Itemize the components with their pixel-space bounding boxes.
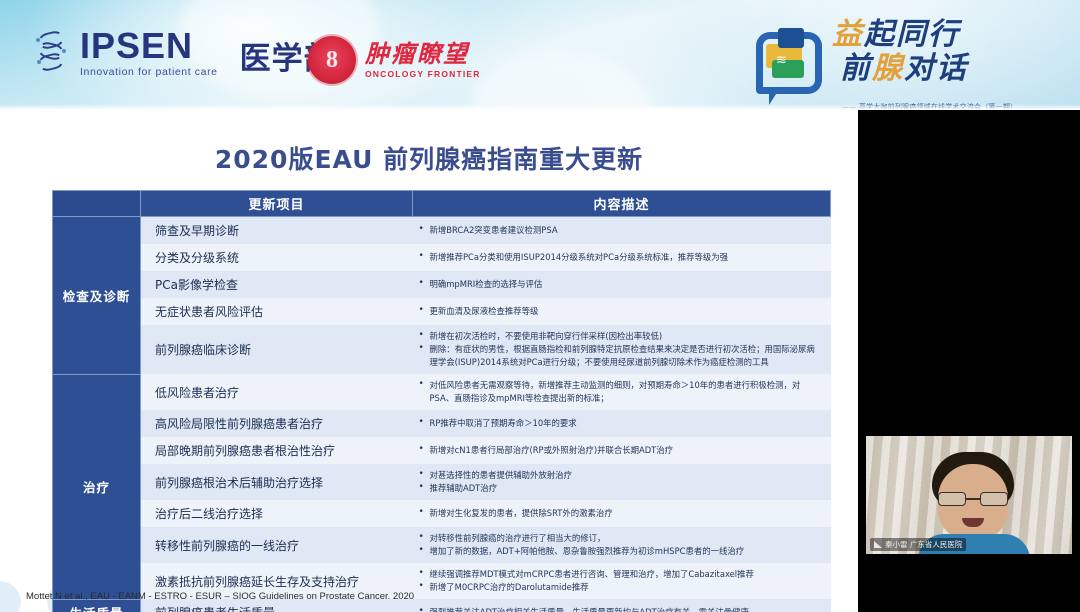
ipsen-name: IPSEN (80, 28, 218, 64)
description-bullet: 继续强调推荐MDT模式对mCRPC患者进行咨询、管理和治疗，增加了Cabazit… (419, 568, 821, 581)
table-row: PCa影像学检查明确mpMRI检查的选择与评估 (53, 271, 831, 298)
table-row: 检查及诊断筛查及早期诊断新增BRCA2突变患者建议检测PSA (53, 217, 831, 245)
citation-text: Mottet N et al., EAU - EANM - ESTRO - ES… (26, 591, 414, 602)
row-description: 新增对cN1患者行局部治疗(RP或外照射治疗)并联合长期ADT治疗 (413, 437, 831, 464)
column-header-blank (53, 191, 141, 217)
row-description: 新增推荐PCa分类和使用ISUP2014分级系统对PCa分级系统标准，推荐等级为… (413, 244, 831, 271)
description-bullet: 删除：有症状的男性，根据直肠指检和前列腺特定抗原检查结果来决定是否进行初次活检；… (419, 343, 821, 369)
meeting-logo: ≋ 益起同行 前腺对话 —— 高学大咖前列腺癌领域在线学术交流会（第一期） (746, 14, 1066, 110)
section-label: 检查及诊断 (53, 217, 141, 375)
table-row: 局部晚期前列腺癌患者根治性治疗新增对cN1患者行局部治疗(RP或外照射治疗)并联… (53, 437, 831, 464)
screen-root: IPSEN Innovation for patient care 医学部 肿瘤… (0, 0, 1080, 612)
meeting-title-line2-a: 前 (840, 51, 872, 86)
description-bullet: 对低风险患者无需观察等待，新增推荐主动监测的细则，对预期寿命＞10年的患者进行积… (419, 379, 821, 405)
ipsen-logo: IPSEN Innovation for patient care 医学部 (34, 28, 336, 78)
meeting-title-line2-b: 对话 (904, 51, 968, 86)
table-row: 前列腺癌临床诊断新增在初次活检时，不要使用非靶向穿行伴采样(因检出率较低)删除：… (53, 325, 831, 374)
section-label: 治疗 (53, 374, 141, 599)
meeting-title-line1: 起同行 (864, 17, 960, 52)
row-item-label: 低风险患者治疗 (141, 374, 413, 410)
table-row: 高风险局限性前列腺癌患者治疗RP推荐中取消了预期寿命＞10年的要求 (53, 410, 831, 437)
row-description: 新增对生化复发的患者，提供除SRT外的激素治疗 (413, 500, 831, 527)
page-title: 2020版EAU 前列腺癌指南重大更新 (0, 140, 858, 176)
row-description: 对转移性前列腺癌的治疗进行了相当大的修订，增加了新的数据，ADT+阿帕他胺、恩杂… (413, 527, 831, 563)
wifi-icon: ≋ (776, 52, 787, 68)
glasses-icon (938, 492, 1008, 506)
column-header-item: 更新项目 (141, 191, 413, 217)
description-bullet: 强烈推荐关注ADT治疗相关生活质量，生活质量更新均与ADT治疗有关，需关注骨健康 (419, 606, 821, 612)
participant-video-tile[interactable]: 秦小雷 广东省人民医院 (866, 436, 1072, 554)
row-item-label: PCa影像学检查 (141, 271, 413, 298)
chat-bubble-icon: ≋ (756, 32, 822, 94)
row-description: 强烈推荐关注ADT治疗相关生活质量，生活质量更新均与ADT治疗有关，需关注骨健康 (413, 599, 831, 612)
row-description: 对甚选择性的患者提供辅助外放射治疗推荐辅助ADT治疗 (413, 464, 831, 500)
table-row: 治疗后二线治疗选择新增对生化复发的患者，提供除SRT外的激素治疗 (53, 500, 831, 527)
oncology-en-name: ONCOLOGY FRONTIER (365, 69, 481, 79)
crab-logo-icon (308, 36, 356, 84)
decorative-blob (470, 50, 650, 110)
row-item-label: 无症状患者风险评估 (141, 298, 413, 325)
column-header-desc: 内容描述 (413, 191, 831, 217)
signal-bars-icon (874, 541, 882, 548)
meeting-title: 益起同行 前腺对话 (832, 18, 1064, 86)
slide-area: 2020版EAU 前列腺癌指南重大更新 更新项目 内容描述 检查及诊断筛查及早期… (0, 110, 858, 612)
dna-helix-icon (34, 30, 70, 78)
description-bullet: 更新血清及尿液检查推荐等级 (419, 305, 821, 318)
row-item-label: 筛查及早期诊断 (141, 217, 413, 245)
row-description: 更新血清及尿液检查推荐等级 (413, 298, 831, 325)
table-row: 治疗低风险患者治疗对低风险患者无需观察等待，新增推荐主动监测的细则，对预期寿命＞… (53, 374, 831, 410)
row-item-label: 高风险局限性前列腺癌患者治疗 (141, 410, 413, 437)
row-item-label: 前列腺癌根治术后辅助治疗选择 (141, 464, 413, 500)
ipsen-wordmark: IPSEN Innovation for patient care (80, 28, 218, 78)
header-banner: IPSEN Innovation for patient care 医学部 肿瘤… (0, 0, 1080, 110)
table-row: 无症状患者风险评估更新血清及尿液检查推荐等级 (53, 298, 831, 325)
table-header-row: 更新项目 内容描述 (53, 191, 831, 217)
oncology-cn-name: 肿瘤瞭望 (365, 42, 481, 66)
row-item-label: 局部晚期前列腺癌患者根治性治疗 (141, 437, 413, 464)
row-item-label: 分类及分级系统 (141, 244, 413, 271)
description-bullet: 新增推荐PCa分类和使用ISUP2014分级系统对PCa分级系统标准，推荐等级为… (419, 251, 821, 264)
video-panel[interactable]: 秦小雷 广东省人民医院 (858, 110, 1080, 612)
row-item-label: 前列腺癌临床诊断 (141, 325, 413, 374)
oncology-frontier-logo: 肿瘤瞭望 ONCOLOGY FRONTIER (308, 36, 481, 84)
row-description: RP推荐中取消了预期寿命＞10年的要求 (413, 410, 831, 437)
description-bullet: 对转移性前列腺癌的治疗进行了相当大的修订， (419, 532, 821, 545)
meeting-subtitle: —— 高学大咖前列腺癌领域在线学术交流会（第一期） (842, 102, 1017, 110)
description-bullet: 新增在初次活检时，不要使用非靶向穿行伴采样(因检出率较低) (419, 330, 821, 343)
table-row: 转移性前列腺癌的一线治疗对转移性前列腺癌的治疗进行了相当大的修订，增加了新的数据… (53, 527, 831, 563)
description-bullet: 增加了新的数据，ADT+阿帕他胺、恩杂鲁胺强烈推荐为初诊mHSPC患者的一线治疗 (419, 545, 821, 558)
description-bullet: 新增BRCA2突变患者建议检测PSA (419, 224, 821, 237)
participant-name: 秦小雷 广东省人民医院 (885, 539, 962, 550)
description-bullet: 新增对生化复发的患者，提供除SRT外的激素治疗 (419, 507, 821, 520)
meeting-title-line1-accent: 益 (832, 17, 864, 52)
table-row: 分类及分级系统新增推荐PCa分类和使用ISUP2014分级系统对PCa分级系统标… (53, 244, 831, 271)
description-bullet: 对甚选择性的患者提供辅助外放射治疗 (419, 469, 821, 482)
description-bullet: 推荐辅助ADT治疗 (419, 482, 821, 495)
description-bullet: 明确mpMRI检查的选择与评估 (419, 278, 821, 291)
participant-name-badge: 秦小雷 广东省人民医院 (870, 538, 966, 551)
row-description: 新增BRCA2突变患者建议检测PSA (413, 217, 831, 245)
meeting-title-line2-accent: 腺 (872, 51, 904, 86)
description-bullet: RP推荐中取消了预期寿命＞10年的要求 (419, 417, 821, 430)
row-description: 继续强调推荐MDT模式对mCRPC患者进行咨询、管理和治疗，增加了Cabazit… (413, 563, 831, 599)
row-item-label: 转移性前列腺癌的一线治疗 (141, 527, 413, 563)
table-body: 检查及诊断筛查及早期诊断新增BRCA2突变患者建议检测PSA分类及分级系统新增推… (53, 217, 831, 612)
row-description: 新增在初次活检时，不要使用非靶向穿行伴采样(因检出率较低)删除：有症状的男性，根… (413, 325, 831, 374)
row-description: 明确mpMRI检查的选择与评估 (413, 271, 831, 298)
table-row: 前列腺癌根治术后辅助治疗选择对甚选择性的患者提供辅助外放射治疗推荐辅助ADT治疗 (53, 464, 831, 500)
description-bullet: 新增了M0CRPC治疗的Darolutamide推荐 (419, 581, 821, 594)
row-description: 对低风险患者无需观察等待，新增推荐主动监测的细则，对预期寿命＞10年的患者进行积… (413, 374, 831, 410)
row-item-label: 治疗后二线治疗选择 (141, 500, 413, 527)
guideline-update-table: 更新项目 内容描述 检查及诊断筛查及早期诊断新增BRCA2突变患者建议检测PSA… (52, 190, 831, 612)
ipsen-tagline: Innovation for patient care (80, 67, 218, 78)
description-bullet: 新增对cN1患者行局部治疗(RP或外照射治疗)并联合长期ADT治疗 (419, 444, 821, 457)
